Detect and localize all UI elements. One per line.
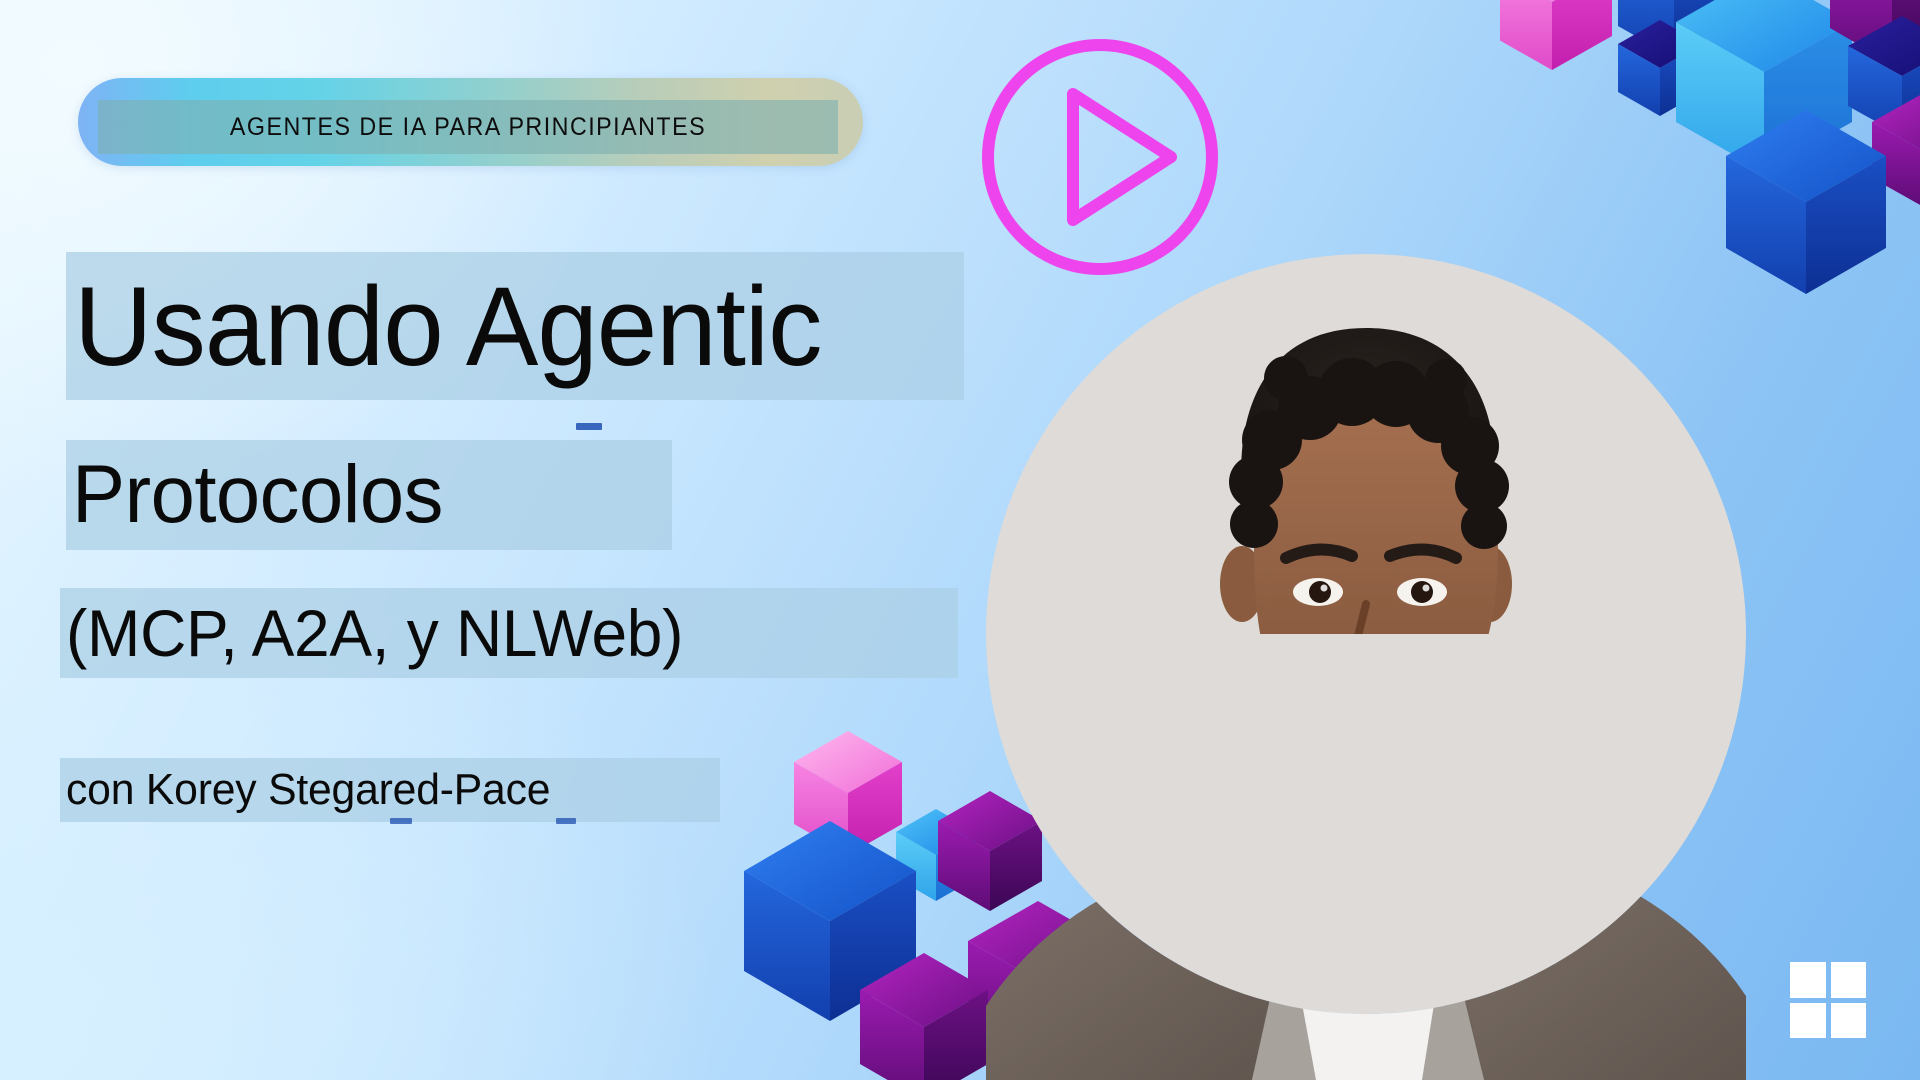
- ms-logo-square-4: [1831, 1003, 1867, 1039]
- presenter-credit: con Korey Stegared-Pace: [60, 758, 720, 822]
- slide-canvas: AGENTES DE IA PARA PRINCIPIANTES Usando …: [0, 0, 1920, 1080]
- underline-artifact-3: [556, 818, 576, 824]
- ms-logo-square-2: [1831, 962, 1867, 998]
- ms-logo-square-1: [1790, 962, 1826, 998]
- play-circle-icon[interactable]: [975, 32, 1225, 282]
- title-line-2: Protocolos: [66, 440, 672, 550]
- eyebrow-label: AGENTES DE IA PARA PRINCIPIANTES: [124, 113, 812, 142]
- title-line-2-text: Protocolos: [72, 448, 443, 542]
- presenter-portrait: [986, 254, 1746, 1080]
- title-line-1-text: Usando Agentic: [74, 262, 821, 391]
- microsoft-logo-icon: [1790, 962, 1866, 1038]
- presenter-credit-text: con Korey Stegared-Pace: [66, 765, 550, 815]
- ms-logo-square-3: [1790, 1003, 1826, 1039]
- underline-artifact-2: [390, 818, 412, 824]
- eyebrow-banner: AGENTES DE IA PARA PRINCIPIANTES: [98, 100, 838, 154]
- title-line-1: Usando Agentic: [66, 252, 964, 400]
- title-line-3-text: (MCP, A2A, y NLWeb): [66, 595, 683, 671]
- underline-artifact-1: [576, 423, 602, 430]
- title-line-3: (MCP, A2A, y NLWeb): [60, 588, 958, 678]
